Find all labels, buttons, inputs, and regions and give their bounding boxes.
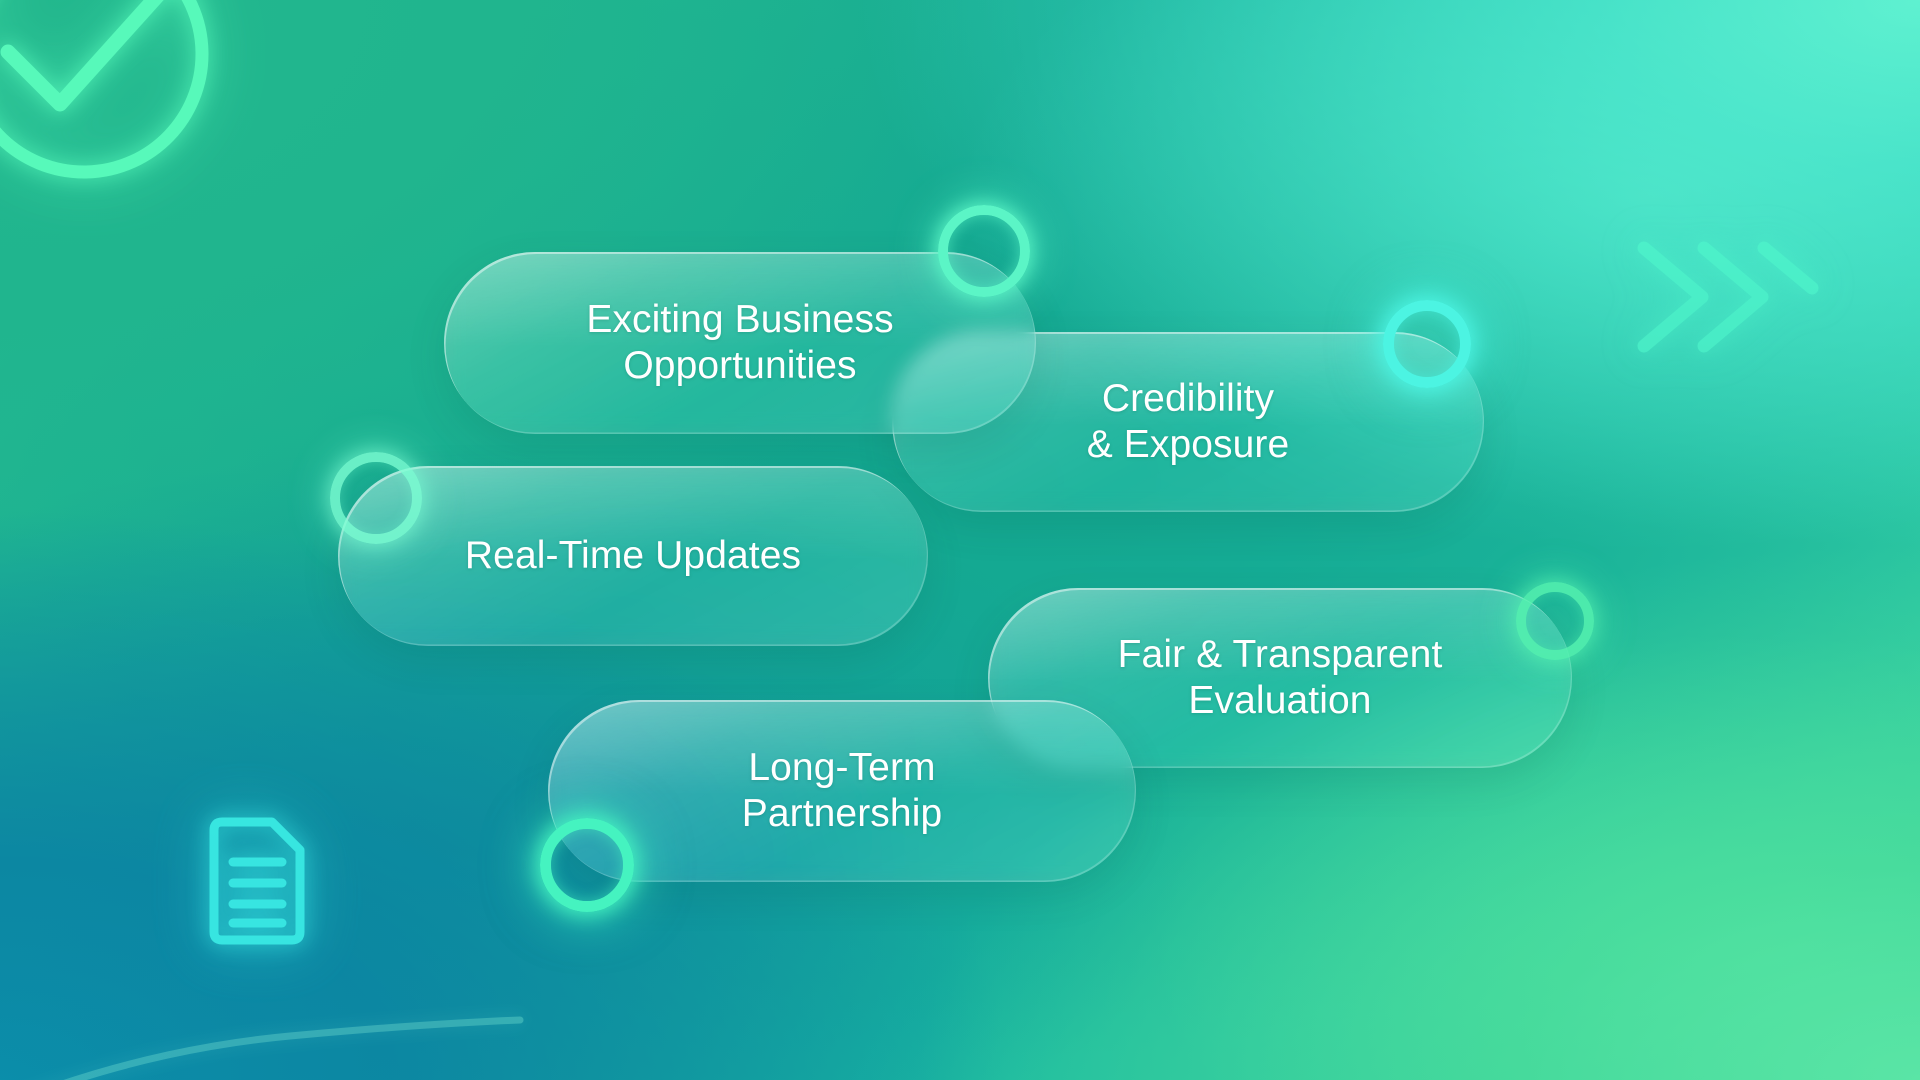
glow-ring-right [1516,582,1594,660]
glow-ring-mid-left [330,452,422,544]
pill-label: Credibility & Exposure [1087,376,1290,467]
background-color-wash [0,0,1920,1080]
pill-real-time-updates[interactable]: Real-Time Updates [338,466,928,646]
pill-label: Real-Time Updates [465,533,801,579]
glow-ring-bottom [540,818,634,912]
pill-label: Long-Term Partnership [742,745,943,836]
glow-ring-upper-right [1383,300,1471,388]
pill-long-term-partnership[interactable]: Long-Term Partnership [548,700,1136,882]
graphic-canvas: Credibility & Exposure Fair & Transparen… [0,0,1920,1080]
glow-ring-top [938,205,1030,297]
pill-label: Exciting Business Opportunities [586,297,893,388]
pill-label: Fair & Transparent Evaluation [1118,632,1443,723]
